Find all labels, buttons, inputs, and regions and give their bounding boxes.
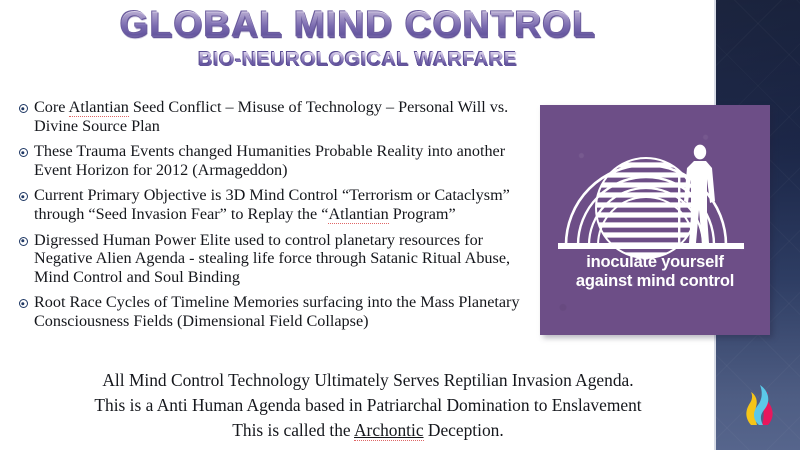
footer-line-3-after: Deception.: [424, 420, 504, 440]
list-item-label: These Trauma Events changed Humanities P…: [34, 142, 536, 179]
list-item-label: Root Race Cycles of Timeline Memories su…: [34, 293, 536, 330]
poster-artwork-icon: [540, 105, 770, 335]
footer-line-3-before: This is called the: [232, 420, 354, 440]
target-bullet-icon: [12, 142, 34, 157]
title-block: GLOBAL MIND CONTROL BIO-NEUROLOGICAL WAR…: [0, 4, 716, 72]
list-item-label: Digressed Human Power Elite used to cont…: [34, 231, 536, 287]
footer-line-2: This is a Anti Human Agenda based in Pat…: [18, 393, 718, 418]
footer-line-3: This is called the Archontic Deception.: [18, 418, 718, 443]
slide-canvas: GLOBAL MIND CONTROL BIO-NEUROLOGICAL WAR…: [0, 0, 800, 450]
target-bullet-icon: [12, 293, 34, 308]
list-item: Digressed Human Power Elite used to cont…: [12, 231, 536, 287]
list-item: Current Primary Objective is 3D Mind Con…: [12, 186, 536, 223]
target-bullet-icon: [12, 98, 34, 113]
poster-image: inoculate yourself against mind control: [540, 105, 770, 335]
footer-paragraph: All Mind Control Technology Ultimately S…: [18, 368, 718, 443]
bullet-list: Core Atlantian Seed Conflict – Misuse of…: [12, 98, 536, 338]
footer-line-1: All Mind Control Technology Ultimately S…: [18, 368, 718, 393]
target-bullet-icon: [12, 186, 34, 201]
tri-color-flame-logo: [739, 375, 779, 427]
poster-caption-line-2: against mind control: [540, 272, 770, 291]
target-bullet-icon: [12, 231, 34, 246]
page-subtitle: BIO-NEUROLOGICAL WARFARE: [198, 48, 517, 72]
list-item-label: Current Primary Objective is 3D Mind Con…: [34, 186, 536, 223]
poster-caption-line-1: inoculate yourself: [540, 253, 770, 272]
poster-caption: inoculate yourself against mind control: [540, 253, 770, 290]
list-item-label: Core Atlantian Seed Conflict – Misuse of…: [34, 98, 536, 135]
list-item: These Trauma Events changed Humanities P…: [12, 142, 536, 179]
page-title: GLOBAL MIND CONTROL: [120, 4, 596, 46]
list-item: Core Atlantian Seed Conflict – Misuse of…: [12, 98, 536, 135]
flame-icon: [739, 375, 779, 427]
footer-underlined-word: Archontic: [354, 420, 424, 441]
list-item: Root Race Cycles of Timeline Memories su…: [12, 293, 536, 330]
